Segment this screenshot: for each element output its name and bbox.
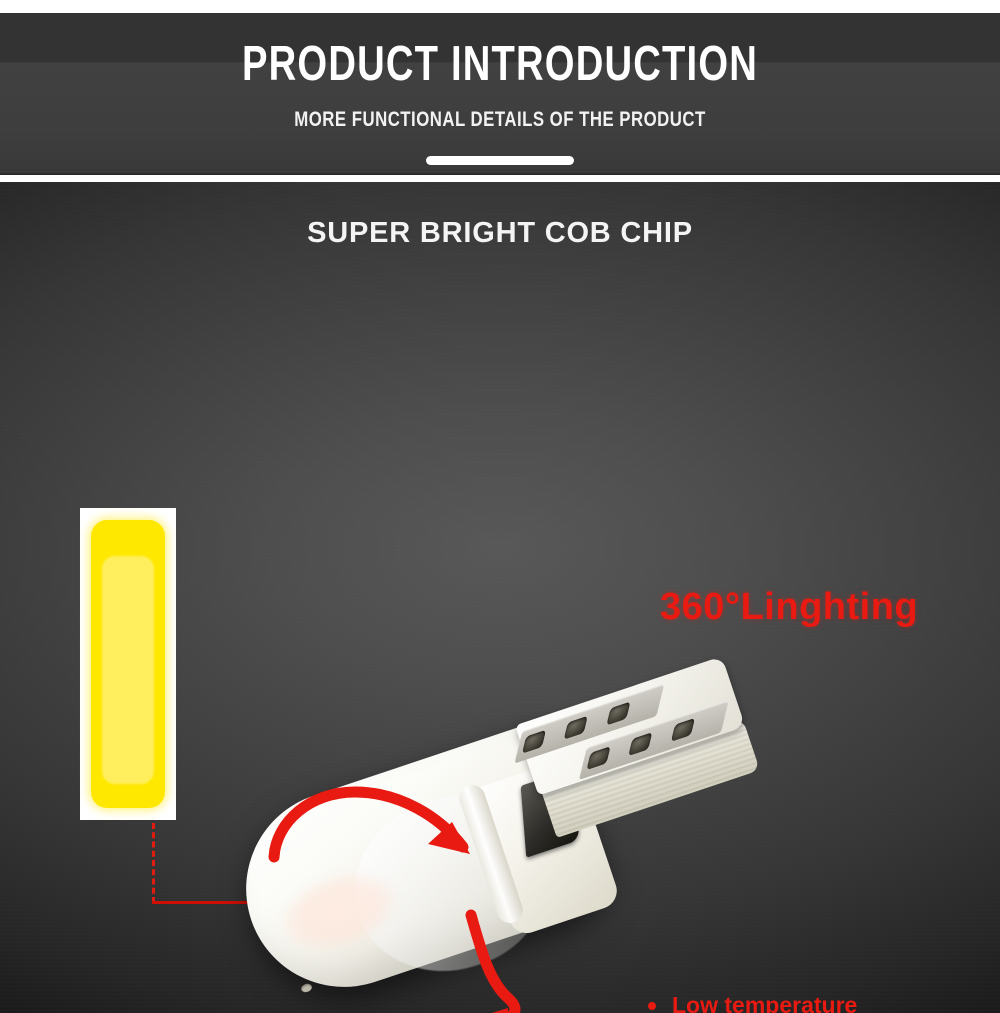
chip-callout-dashed-line <box>152 823 155 903</box>
contact-pad <box>628 732 652 756</box>
cob-chip-swatch <box>80 508 176 820</box>
contact-pad <box>564 716 588 740</box>
lighting-angle-label: 360°Linghting <box>660 586 918 629</box>
bulb-vent-hole <box>300 982 313 993</box>
product-introduction-page: PRODUCT INTRODUCTION MORE FUNCTIONAL DET… <box>0 0 1000 1013</box>
list-item: Low temperature <box>648 992 943 1013</box>
header-banner: PRODUCT INTRODUCTION MORE FUNCTIONAL DET… <box>0 13 1000 175</box>
page-subtitle: MORE FUNCTIONAL DETAILS OF THE PRODUCT <box>100 108 900 132</box>
contact-pad <box>587 746 611 770</box>
contact-pad <box>671 718 695 742</box>
feature-list: Low temperature Energy-Saving Low power … <box>648 992 943 1013</box>
cob-chip-inner-glow <box>102 556 154 784</box>
page-title: PRODUCT INTRODUCTION <box>110 39 890 90</box>
feature-label: Low temperature <box>672 992 857 1013</box>
t10-led-bulb <box>236 726 766 1013</box>
cob-chip-core <box>91 520 165 808</box>
title-divider <box>426 156 574 165</box>
bulb-pcb-base <box>515 652 775 850</box>
product-showcase-stage: SUPER BRIGHT COB CHIP <box>0 182 1000 1013</box>
contact-pad <box>522 730 546 754</box>
contact-pad <box>606 702 630 726</box>
bullet-icon <box>648 1002 656 1010</box>
section-title: SUPER BRIGHT COB CHIP <box>0 217 1000 250</box>
